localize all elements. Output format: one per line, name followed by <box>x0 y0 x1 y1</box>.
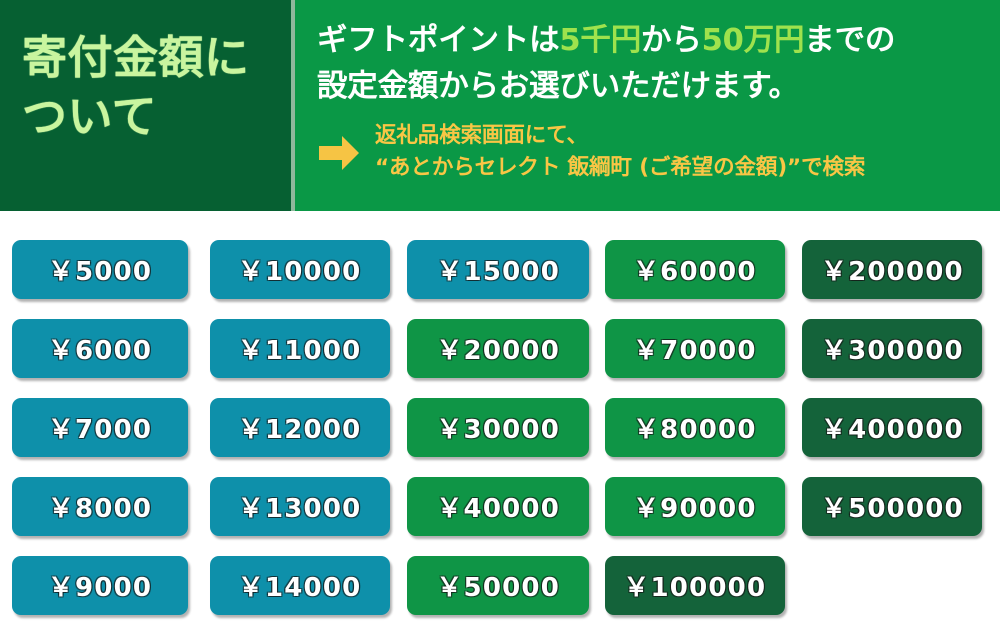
amount-button-80000[interactable]: ￥80000 <box>605 398 785 457</box>
amount-cell: ￥7000 <box>12 398 210 457</box>
amount-cell: ￥15000 <box>407 240 605 299</box>
amount-cell: ￥80000 <box>605 398 803 457</box>
amount-cell: ￥90000 <box>605 477 803 536</box>
amount-button-9000[interactable]: ￥9000 <box>12 556 188 615</box>
amount-button-300000[interactable]: ￥300000 <box>802 319 982 378</box>
amount-cell: ￥8000 <box>12 477 210 536</box>
header-banner: 寄付金額について ギフトポイントは5千円から50万円までの 設定金額からお選びい… <box>0 0 1000 211</box>
amount-button-8000[interactable]: ￥8000 <box>12 477 188 536</box>
amount-row: ￥8000￥13000￥40000￥90000￥500000 <box>0 477 1000 536</box>
amount-button-100000[interactable]: ￥100000 <box>605 556 785 615</box>
amount-button-60000[interactable]: ￥60000 <box>605 240 785 299</box>
lead-line-1: ギフトポイントは5千円から50万円までの <box>317 20 986 62</box>
amount-cell: ￥14000 <box>210 556 408 615</box>
amount-cell: ￥13000 <box>210 477 408 536</box>
amount-cell: ￥20000 <box>407 319 605 378</box>
amount-row: ￥9000￥14000￥50000￥100000 <box>0 556 1000 615</box>
amount-button-50000[interactable]: ￥50000 <box>407 556 589 615</box>
amount-button-14000[interactable]: ￥14000 <box>210 556 390 615</box>
amount-button-20000[interactable]: ￥20000 <box>407 319 589 378</box>
amount-cell: ￥400000 <box>802 398 1000 457</box>
amount-cell: ￥5000 <box>12 240 210 299</box>
amount-cell: ￥11000 <box>210 319 408 378</box>
amount-row: ￥5000￥10000￥15000￥60000￥200000 <box>0 240 1000 299</box>
amount-button-5000[interactable]: ￥5000 <box>12 240 188 299</box>
amount-button-200000[interactable]: ￥200000 <box>802 240 982 299</box>
header-title-panel: 寄付金額について <box>0 0 291 211</box>
amount-button-7000[interactable]: ￥7000 <box>12 398 188 457</box>
amount-cell: ￥9000 <box>12 556 210 615</box>
header-description-panel: ギフトポイントは5千円から50万円までの 設定金額からお選びいただけます。 返礼… <box>295 0 1000 211</box>
amount-button-13000[interactable]: ￥13000 <box>210 477 390 536</box>
amount-button-40000[interactable]: ￥40000 <box>407 477 589 536</box>
amount-cell: ￥70000 <box>605 319 803 378</box>
arrow-right-icon <box>317 134 361 172</box>
amount-cell: ￥500000 <box>802 477 1000 536</box>
amount-cell: ￥12000 <box>210 398 408 457</box>
amount-button-11000[interactable]: ￥11000 <box>210 319 390 378</box>
amount-cell: ￥60000 <box>605 240 803 299</box>
amount-button-500000[interactable]: ￥500000 <box>802 477 982 536</box>
amount-button-400000[interactable]: ￥400000 <box>802 398 982 457</box>
search-hint-row: 返礼品検索画面にて、 “あとからセレクト 飯綱町 (ご希望の金額)”で検索 <box>317 120 986 183</box>
lead-text-part1: ギフトポイントは <box>317 23 559 58</box>
amount-cell: ￥40000 <box>407 477 605 536</box>
amount-cell: ￥50000 <box>407 556 605 615</box>
amount-button-30000[interactable]: ￥30000 <box>407 398 589 457</box>
lead-highlight-min: 5千円 <box>559 23 641 58</box>
amount-button-10000[interactable]: ￥10000 <box>210 240 390 299</box>
search-hint-line-1: 返礼品検索画面にて、 <box>375 123 588 148</box>
amount-cell-empty <box>802 556 1000 615</box>
amount-button-6000[interactable]: ￥6000 <box>12 319 188 378</box>
amount-button-12000[interactable]: ￥12000 <box>210 398 390 457</box>
lead-highlight-max: 50万円 <box>702 23 805 58</box>
amount-row: ￥6000￥11000￥20000￥70000￥300000 <box>0 319 1000 378</box>
amount-button-15000[interactable]: ￥15000 <box>407 240 589 299</box>
amount-cell: ￥30000 <box>407 398 605 457</box>
donation-amount-grid: ￥5000￥10000￥15000￥60000￥200000￥6000￥1100… <box>0 211 1000 621</box>
amount-cell: ￥6000 <box>12 319 210 378</box>
amount-cell: ￥300000 <box>802 319 1000 378</box>
page-title: 寄付金額について <box>22 28 273 147</box>
lead-text-part3: までの <box>804 23 895 58</box>
amount-row: ￥7000￥12000￥30000￥80000￥400000 <box>0 398 1000 457</box>
search-hint-text: 返礼品検索画面にて、 “あとからセレクト 飯綱町 (ご希望の金額)”で検索 <box>375 120 865 183</box>
lead-line-2: 設定金額からお選びいただけます。 <box>317 66 986 108</box>
lead-text-part2: から <box>641 23 702 58</box>
amount-button-70000[interactable]: ￥70000 <box>605 319 785 378</box>
amount-cell: ￥10000 <box>210 240 408 299</box>
amount-button-90000[interactable]: ￥90000 <box>605 477 785 536</box>
amount-cell: ￥100000 <box>605 556 803 615</box>
amount-cell: ￥200000 <box>802 240 1000 299</box>
search-hint-line-2: “あとからセレクト 飯綱町 (ご希望の金額)”で検索 <box>375 155 865 180</box>
